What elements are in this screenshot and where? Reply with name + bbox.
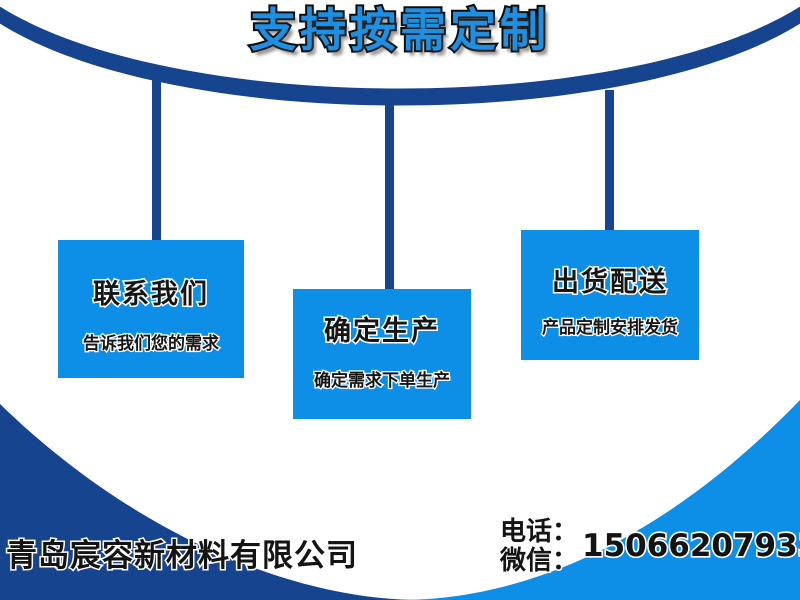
wechat-label: 微信：: [500, 540, 578, 577]
step-card-confirm-production[interactable]: 确定生产 确定需求下单生产: [293, 289, 471, 419]
vertical-connector-3: [605, 90, 614, 233]
step-card-subtitle: 告诉我们您的需求: [46, 329, 256, 354]
step-card-title: 出货配送: [521, 260, 699, 299]
page-title: 支持按需定制: [0, 0, 800, 60]
step-card-title: 确定生产: [293, 309, 471, 348]
step-card-subtitle: 产品定制安排发货: [509, 313, 711, 338]
contact-info: 电话： 微信： 15066207933: [500, 511, 800, 591]
step-card-subtitle: 确定需求下单生产: [281, 366, 483, 391]
poster-canvas: 支持按需定制 联系我们 告诉我们您的需求 确定生产 确定需求下单生产 出货配送 …: [0, 0, 800, 600]
step-card-title: 联系我们: [58, 272, 244, 311]
contact-number: 15066207933: [582, 528, 800, 564]
company-name: 青岛宸容新材料有限公司: [6, 530, 358, 575]
vertical-connector-2: [385, 100, 394, 292]
step-card-shipping-delivery[interactable]: 出货配送 产品定制安排发货: [521, 230, 699, 360]
vertical-connector-1: [152, 78, 161, 243]
step-card-contact-us[interactable]: 联系我们 告诉我们您的需求: [58, 240, 244, 378]
